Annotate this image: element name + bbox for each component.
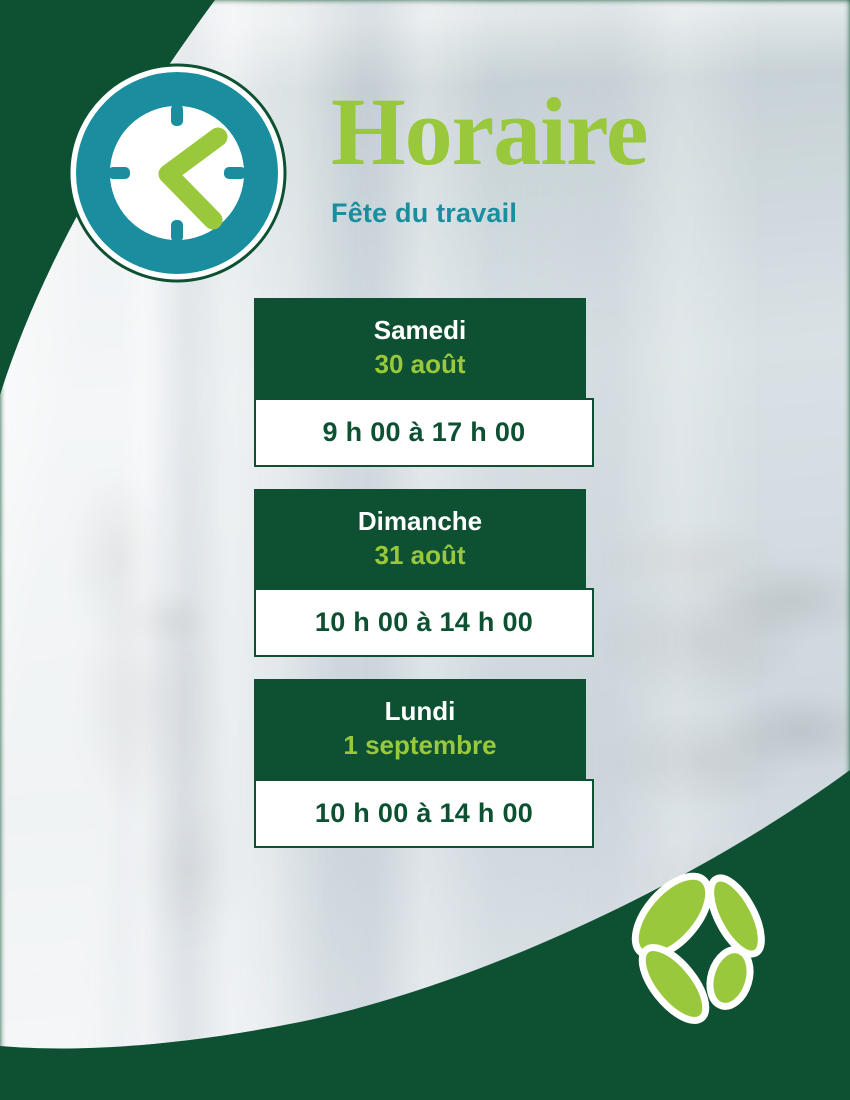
page-title: Horaire xyxy=(331,84,751,180)
schedule-hours-label: 10 h 00 à 14 h 00 xyxy=(254,779,594,848)
schedule-day-label: Samedi xyxy=(264,316,576,346)
title-block: Horaire Fête du travail xyxy=(331,84,751,229)
schedule-list: Samedi 30 août 9 h 00 à 17 h 00 Dimanche… xyxy=(254,298,594,870)
schedule-card: Samedi 30 août 9 h 00 à 17 h 00 xyxy=(254,298,594,467)
schedule-hours-label: 9 h 00 à 17 h 00 xyxy=(254,398,594,467)
schedule-card-header: Samedi 30 août xyxy=(254,298,586,398)
poster-canvas: Horaire Fête du travail Samedi 30 août 9… xyxy=(0,0,850,1100)
schedule-date-label: 30 août xyxy=(264,348,576,382)
page-subtitle: Fête du travail xyxy=(331,198,751,229)
schedule-date-label: 31 août xyxy=(264,539,576,573)
schedule-hours-label: 10 h 00 à 14 h 00 xyxy=(254,588,594,657)
schedule-date-label: 1 septembre xyxy=(264,729,576,763)
clock-icon xyxy=(66,62,288,284)
schedule-card-header: Dimanche 31 août xyxy=(254,489,586,589)
butterfly-logo-icon xyxy=(618,858,798,1038)
schedule-day-label: Dimanche xyxy=(264,507,576,537)
schedule-day-label: Lundi xyxy=(264,697,576,727)
schedule-card-header: Lundi 1 septembre xyxy=(254,679,586,779)
schedule-card: Dimanche 31 août 10 h 00 à 14 h 00 xyxy=(254,489,594,658)
schedule-card: Lundi 1 septembre 10 h 00 à 14 h 00 xyxy=(254,679,594,848)
